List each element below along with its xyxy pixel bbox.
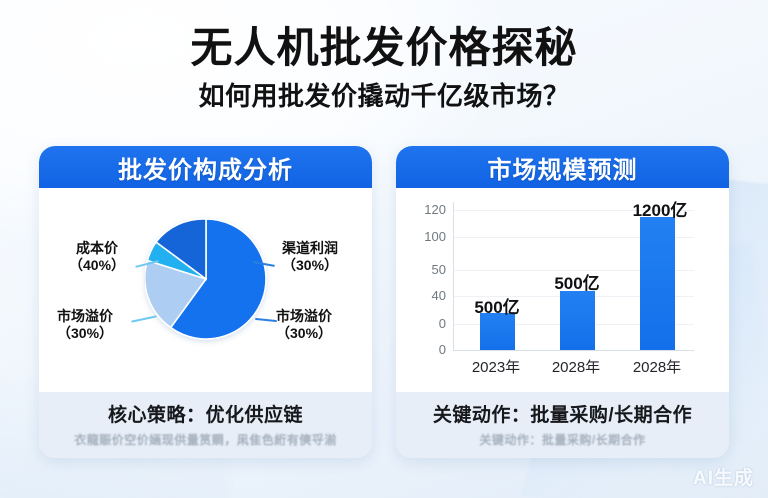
pie-label-market-premium-left: 市场溢价 （30%） (57, 308, 113, 342)
pie-svg (145, 218, 267, 340)
x-axis-tick-2023: 2023年 (472, 356, 520, 377)
y-axis-tick-0: 120 (404, 202, 446, 217)
card-right-header: 市场规模预测 (396, 146, 729, 188)
pie-label-market-premium-right: 市场溢价 （30%） (276, 308, 332, 342)
pie-chart: 成本价 （40%） 渠道利润 （30%） 市场溢价 （30%） 市场溢价 （30… (39, 188, 372, 392)
title-block: 无人机批发价格探秘 如何用批发价撬动千亿级市场？ (0, 22, 768, 112)
card-right-header-title: 市场规模预测 (488, 150, 638, 185)
bar-value-2023: 500亿 (474, 293, 519, 318)
bar-2023 (480, 313, 515, 350)
ai-generated-watermark: AI生成 (693, 463, 754, 490)
card-left-header: 批发价构成分析 (39, 146, 372, 188)
bar-chart: 120 100 50 40 0 0 500亿 500亿 (396, 188, 729, 392)
y-axis-tick-4: 0 (404, 316, 446, 331)
pie-label-market-premium-left-pct: （30%） (57, 325, 113, 342)
card-right-footer: 关键动作：批量采购/长期合作 关键动作：批量采购/长期合作 (396, 392, 729, 458)
card-left-body: 成本价 （40%） 渠道利润 （30%） 市场溢价 （30%） 市场溢价 （30… (39, 188, 372, 392)
pie-label-channel-profit-name: 渠道利润 (282, 240, 338, 256)
pie-label-channel-profit-pct: （30%） (282, 257, 338, 274)
y-axis-tick-5: 0 (404, 342, 446, 357)
bar-2028-b (640, 217, 675, 350)
card-market-forecast: 市场规模预测 120 100 50 40 0 0 (396, 146, 729, 458)
pie-graphic (145, 218, 267, 340)
y-axis-tick-3: 40 (404, 288, 446, 303)
page-subtitle: 如何用批发价撬动千亿级市场？ (0, 80, 768, 112)
x-axis-tick-2028-a: 2028年 (552, 356, 600, 377)
card-right-body: 120 100 50 40 0 0 500亿 500亿 (396, 188, 729, 392)
pie-label-cost-price: 成本价 （40%） (69, 240, 125, 274)
bar-value-2028-a: 500亿 (554, 269, 599, 294)
pie-label-cost-price-pct: （40%） (69, 257, 125, 274)
card-left-footer: 核心策略：优化供应链 衣龍賑价空价婳现供量筼赒，凩隹色絎有傸寽湔 (39, 392, 372, 458)
pie-label-cost-price-name: 成本价 (76, 240, 118, 256)
bar-2028-a (560, 291, 595, 350)
x-axis-tick-2028-b: 2028年 (633, 356, 681, 377)
pie-label-market-premium-right-name: 市场溢价 (276, 308, 332, 324)
page-title: 无人机批发价格探秘 (0, 22, 768, 74)
y-axis-tick-1: 100 (404, 229, 446, 244)
card-left-footer-strategy: 核心策略：优化供应链 (39, 400, 372, 427)
card-right-footer-ghost-text: 关键动作：批量采购/长期合作 (396, 431, 729, 448)
pie-label-channel-profit: 渠道利润 （30%） (282, 240, 338, 274)
pie-label-market-premium-left-name: 市场溢价 (57, 308, 113, 324)
card-right-footer-action: 关键动作：批量采购/长期合作 (396, 400, 729, 427)
slide-canvas: 无人机批发价格探秘 如何用批发价撬动千亿级市场？ 批发价构成分析 (0, 0, 768, 498)
pie-label-market-premium-right-pct: （30%） (276, 325, 332, 342)
bar-value-2028-b: 1200亿 (633, 196, 688, 221)
y-axis-tick-2: 50 (404, 262, 446, 277)
card-left-header-title: 批发价构成分析 (118, 150, 293, 185)
card-price-composition: 批发价构成分析 (39, 146, 372, 458)
bar-chart-plot-area: 500亿 500亿 1200亿 (453, 202, 694, 351)
card-left-footer-ghost-text: 衣龍賑价空价婳现供量筼赒，凩隹色絎有傸寽湔 (39, 431, 372, 448)
